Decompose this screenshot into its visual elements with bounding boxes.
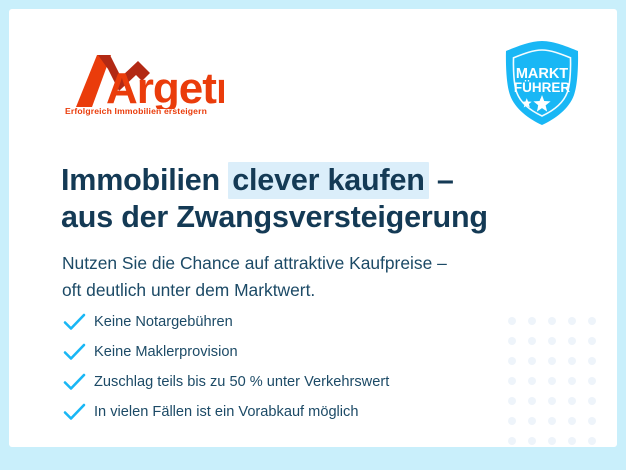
decorative-dot [568,357,576,365]
decorative-dot [588,377,596,385]
decorative-dot [588,437,596,445]
decorative-dot [588,417,596,425]
benefit-label: Keine Notargebühren [94,314,233,330]
market-leader-badge: MARKT FÜHRER [496,37,588,129]
decorative-dot [588,397,596,405]
list-item: Keine Maklerprovision [62,337,532,367]
decorative-dot [568,337,576,345]
logo-tagline: Erfolgreich Immobilien ersteigern [65,106,207,116]
decorative-dot [588,337,596,345]
banner-card: Argetra Erfolgreich Immobilien ersteiger… [9,9,617,447]
benefit-label: Zuschlag teils bis zu 50 % unter Verkehr… [94,374,389,390]
decorative-dot [588,357,596,365]
decorative-dot [548,377,556,385]
headline-part2: – [429,163,454,197]
headline-part1: Immobilien [61,163,228,197]
list-item: Keine Notargebühren [62,307,532,337]
decorative-dot [548,437,556,445]
argetra-logo[interactable]: Argetra Erfolgreich Immobilien ersteiger… [64,51,224,123]
decorative-dot [548,417,556,425]
decorative-dot [508,437,516,445]
decorative-dot [548,357,556,365]
subheading-line1: Nutzen Sie die Chance auf attraktive Kau… [62,250,562,277]
check-icon [62,312,87,332]
headline: Immobilien clever kaufen – aus der Zwang… [61,162,561,236]
check-icon [62,342,87,362]
decorative-dot [588,317,596,325]
decorative-dot [568,317,576,325]
svg-text:Argetra: Argetra [106,64,224,109]
badge-line2-text: FÜHRER [514,80,570,95]
shield-icon: MARKT FÜHRER [496,37,588,129]
check-icon [62,372,87,392]
subheading-line2: oft deutlich unter dem Marktwert. [62,277,562,304]
benefits-list: Keine Notargebühren Keine Maklerprovisio… [62,307,532,427]
decorative-dot [568,417,576,425]
headline-highlight: clever kaufen [228,162,428,199]
headline-line2: aus der Zwangsversteigerung [61,199,561,236]
decorative-dot [568,397,576,405]
decorative-dot [568,437,576,445]
list-item: In vielen Fällen ist ein Vorabkauf mögli… [62,397,532,427]
list-item: Zuschlag teils bis zu 50 % unter Verkehr… [62,367,532,397]
decorative-dot [548,397,556,405]
promo-banner: Argetra Erfolgreich Immobilien ersteiger… [0,0,626,470]
check-icon [62,402,87,422]
argetra-logo-mark: Argetra [64,51,224,109]
benefit-label: Keine Maklerprovision [94,344,238,360]
decorative-dot [528,437,536,445]
decorative-dot [548,337,556,345]
decorative-dot [548,317,556,325]
benefit-label: In vielen Fällen ist ein Vorabkauf mögli… [94,404,358,420]
decorative-dot [568,377,576,385]
subheading: Nutzen Sie die Chance auf attraktive Kau… [62,250,562,304]
